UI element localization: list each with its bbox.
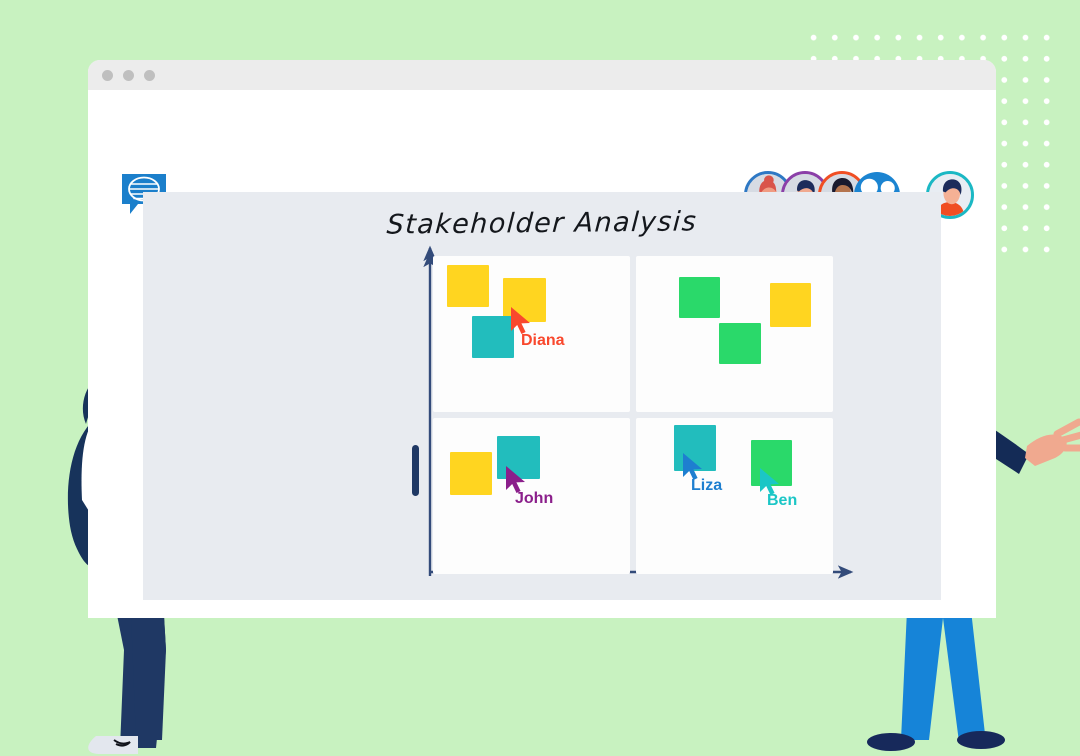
quadrant-top-right[interactable] bbox=[636, 256, 833, 412]
quadrant-top-left[interactable]: Diana bbox=[433, 256, 630, 412]
quadrant-grid: Diana John bbox=[433, 256, 833, 574]
browser-window: Stakeholder Analysis bbox=[88, 60, 996, 618]
quadrant-bottom-left[interactable]: John bbox=[433, 418, 630, 574]
sticky-note[interactable] bbox=[472, 316, 514, 358]
cursor-label-ben: Ben bbox=[767, 492, 797, 510]
cursor-label-john: John bbox=[515, 490, 553, 508]
sticky-note[interactable] bbox=[719, 323, 761, 364]
quadrant-bottom-right[interactable]: Liza Ben bbox=[636, 418, 833, 574]
sticky-note[interactable] bbox=[770, 283, 811, 327]
cursor-label-liza: Liza bbox=[691, 477, 722, 495]
app-header bbox=[88, 90, 996, 192]
screenshot-root: Stakeholder Analysis bbox=[0, 0, 1080, 756]
cursor-label-diana: Diana bbox=[521, 332, 565, 350]
maximize-icon[interactable] bbox=[144, 70, 155, 81]
sticky-note[interactable] bbox=[450, 452, 492, 495]
sticky-note[interactable] bbox=[679, 277, 720, 318]
sticky-note[interactable] bbox=[447, 265, 489, 307]
board-title: Stakeholder Analysis bbox=[142, 204, 942, 243]
close-icon[interactable] bbox=[102, 70, 113, 81]
browser-titlebar bbox=[88, 60, 996, 90]
whiteboard-canvas[interactable]: Stakeholder Analysis bbox=[143, 192, 941, 600]
minimize-icon[interactable] bbox=[123, 70, 134, 81]
vertical-scrollbar[interactable] bbox=[412, 445, 419, 496]
